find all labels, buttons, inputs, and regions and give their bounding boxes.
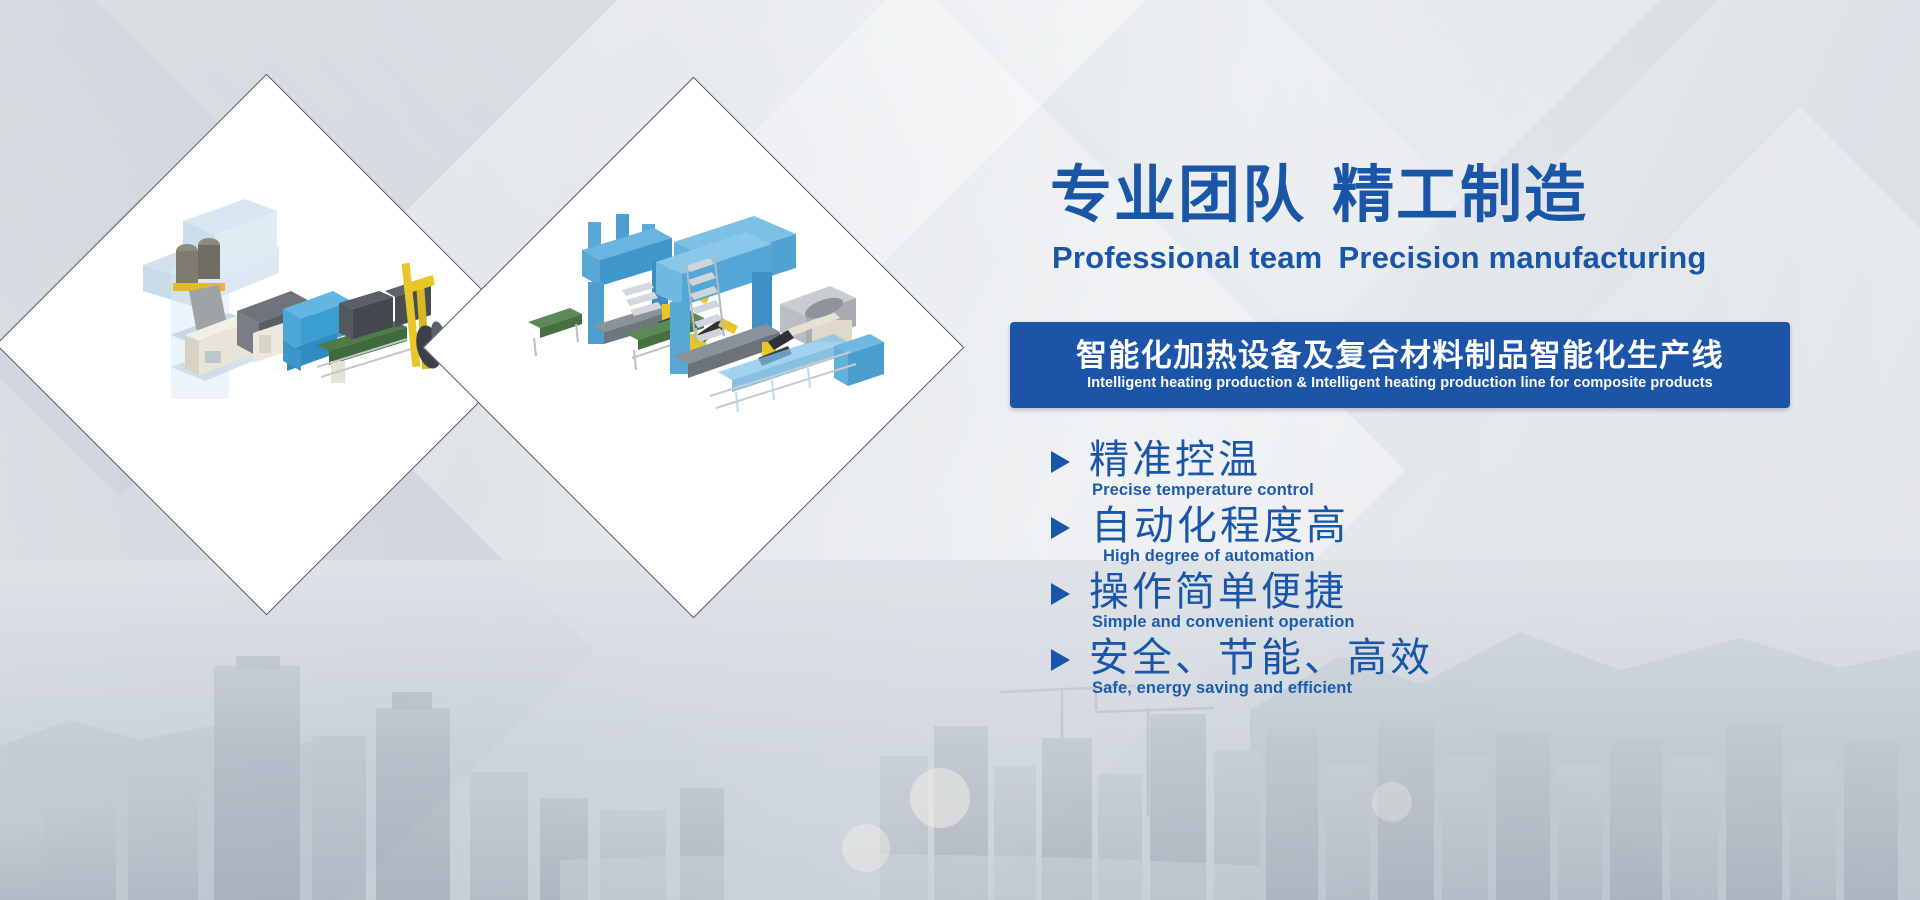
triangle-bullet-icon xyxy=(1051,649,1070,671)
page-subtitle: Professional teamPrecision manufacturing xyxy=(1052,240,1707,276)
headline-en-part2: Precision manufacturing xyxy=(1338,240,1706,275)
feature-3-en: Simple and convenient operation xyxy=(1092,613,1895,631)
press-machine-line-render-2 xyxy=(504,158,884,538)
production-line-render-1 xyxy=(76,155,456,535)
feature-3-cn: 操作简单便捷 xyxy=(1089,570,1895,615)
feature-item-3: 操作简单便捷 Simple and convenient operation xyxy=(1035,570,1895,631)
feature-2-en: High degree of automation xyxy=(1103,547,1895,565)
triangle-bullet-icon xyxy=(1051,451,1070,473)
product-ribbon-banner: 智能化加热设备及复合材料制品智能化生产线 Intelligent heating… xyxy=(1010,322,1790,408)
feature-1-en: Precise temperature control xyxy=(1092,481,1895,499)
triangle-bullet-icon xyxy=(1051,517,1070,539)
ribbon-title-cn: 智能化加热设备及复合材料制品智能化生产线 xyxy=(1076,339,1724,372)
headline-cn-part1: 专业团队 xyxy=(1050,161,1306,230)
triangle-bullet-icon xyxy=(1051,583,1070,605)
headline-cn-part2: 精工制造 xyxy=(1332,161,1588,230)
feature-4-en: Safe, energy saving and efficient xyxy=(1092,679,1895,697)
feature-item-1: 精准控温 Precise temperature control xyxy=(1035,438,1895,499)
feature-item-4: 安全、节能、高效 Safe, energy saving and efficie… xyxy=(1035,636,1895,697)
headline-en-part1: Professional team xyxy=(1052,240,1322,275)
page-title: 专业团队精工制造 xyxy=(1050,144,1588,234)
feature-item-2: 自动化程度高 High degree of automation xyxy=(1035,504,1895,565)
promo-banner: 专业团队精工制造 Professional teamPrecision manu… xyxy=(0,0,1920,900)
ribbon-title-en: Intelligent heating production & Intelli… xyxy=(1087,375,1713,391)
feature-1-cn: 精准控温 xyxy=(1089,438,1895,483)
feature-list: 精准控温 Precise temperature control 自动化程度高 … xyxy=(1035,438,1895,697)
product-image-diamond-2[interactable] xyxy=(423,77,965,619)
feature-4-cn: 安全、节能、高效 xyxy=(1089,636,1895,681)
feature-2-cn: 自动化程度高 xyxy=(1091,504,1895,549)
banner-content-column: 专业团队精工制造 Professional teamPrecision manu… xyxy=(1005,0,1920,900)
